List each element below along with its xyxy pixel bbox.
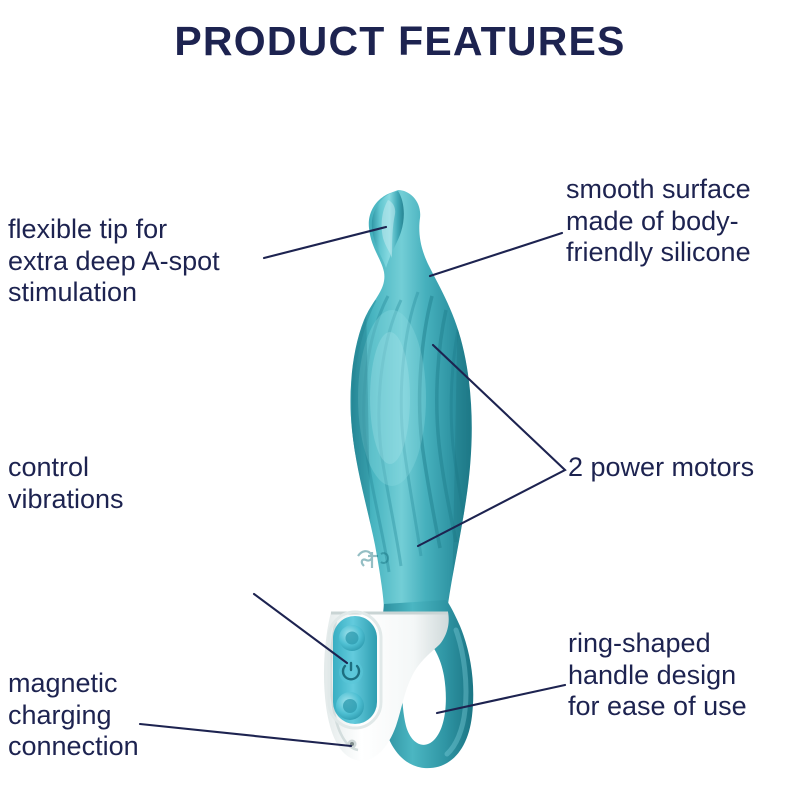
flexible-tip-label: flexible tip for extra deep A-spot stimu…	[8, 214, 288, 309]
ring-handle-label: ring-shaped handle design for ease of us…	[568, 628, 800, 723]
power-motors-label: 2 power motors	[568, 452, 800, 484]
smooth-surface-label: smooth surface made of body- friendly si…	[566, 174, 800, 269]
control-vibrations-label: control vibrations	[8, 452, 258, 515]
leader-smooth-surface	[430, 233, 562, 276]
power-button[interactable]	[339, 660, 363, 684]
magnetic-charging-contact	[348, 740, 357, 749]
intensity-up-button[interactable]	[339, 625, 365, 651]
magnetic-charging-label: magnetic charging connection	[8, 668, 258, 763]
product-body	[324, 190, 473, 768]
product-features-diagram: PRODUCT FEATURES	[0, 0, 800, 800]
intensity-down-button[interactable]	[336, 692, 364, 720]
